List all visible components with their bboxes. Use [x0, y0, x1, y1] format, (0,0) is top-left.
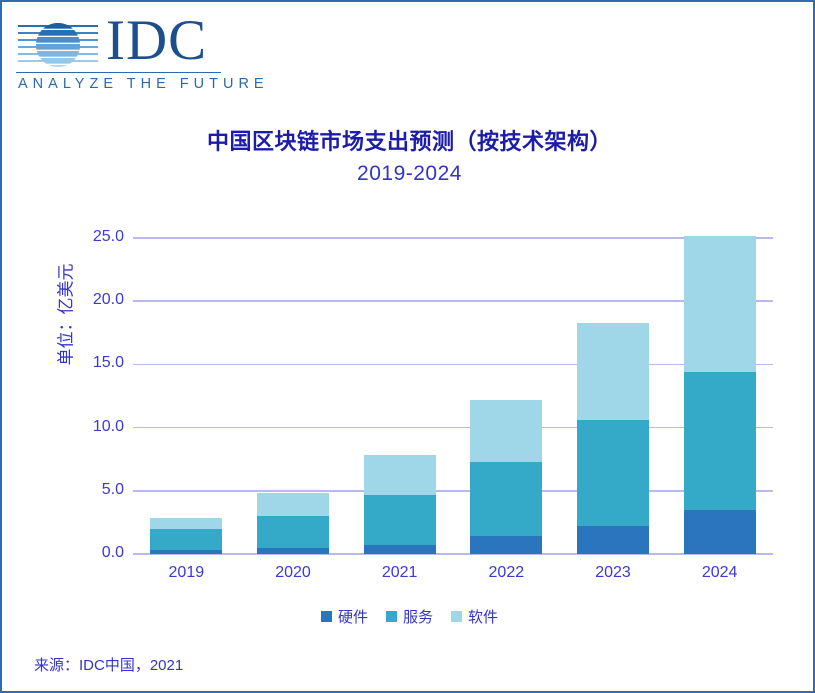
- legend-item[interactable]: 软件: [451, 606, 498, 627]
- y-axis-tick-label: 10.0: [93, 418, 124, 436]
- x-axis-tick-label: 2020: [240, 564, 347, 582]
- chart-legend: 硬件服务软件: [2, 606, 815, 627]
- bar-segment[interactable]: [364, 455, 436, 494]
- bar-segment[interactable]: [470, 536, 542, 554]
- bar-segment[interactable]: [257, 493, 329, 516]
- stacked-bar[interactable]: [257, 493, 329, 554]
- chart-plot: 单位：亿美元 0.05.010.015.020.025.0 2019202020…: [2, 2, 815, 693]
- y-axis-tick-label: 5.0: [102, 481, 124, 499]
- bar-series-container: [133, 238, 773, 554]
- y-axis-tick-label: 20.0: [93, 291, 124, 309]
- bar-segment[interactable]: [364, 495, 436, 546]
- legend-item[interactable]: 硬件: [321, 606, 368, 627]
- bar-segment[interactable]: [470, 400, 542, 462]
- legend-label: 硬件: [338, 606, 368, 627]
- x-axis-tick-label: 2024: [666, 564, 773, 582]
- bar-segment[interactable]: [150, 550, 222, 554]
- bar-segment[interactable]: [257, 548, 329, 554]
- bar-group[interactable]: [577, 238, 649, 554]
- legend-swatch: [451, 611, 462, 622]
- stacked-bar[interactable]: [470, 400, 542, 554]
- bar-group[interactable]: [470, 238, 542, 554]
- bar-group[interactable]: [684, 238, 756, 554]
- x-axis-tick-label: 2023: [560, 564, 667, 582]
- legend-swatch: [386, 611, 397, 622]
- y-axis-tick-label: 25.0: [93, 228, 124, 246]
- bar-group[interactable]: [150, 238, 222, 554]
- bar-segment[interactable]: [150, 518, 222, 529]
- bar-segment[interactable]: [577, 323, 649, 420]
- x-axis-tick-label: 2022: [453, 564, 560, 582]
- y-axis-tick-label: 0.0: [102, 544, 124, 562]
- bar-segment[interactable]: [684, 236, 756, 373]
- legend-swatch: [321, 611, 332, 622]
- source-note: 来源：IDC中国，2021: [34, 654, 183, 675]
- stacked-bar[interactable]: [364, 455, 436, 554]
- legend-item[interactable]: 服务: [386, 606, 433, 627]
- x-axis-tick-label: 2019: [133, 564, 240, 582]
- bar-group[interactable]: [364, 238, 436, 554]
- legend-label: 服务: [403, 606, 433, 627]
- legend-label: 软件: [468, 606, 498, 627]
- bar-segment[interactable]: [150, 529, 222, 550]
- stacked-bar[interactable]: [684, 236, 756, 555]
- bar-segment[interactable]: [684, 372, 756, 510]
- stacked-bar[interactable]: [577, 323, 649, 554]
- y-axis-tick-label: 15.0: [93, 354, 124, 372]
- y-axis-tick-labels: 0.05.010.015.020.025.0: [62, 238, 124, 554]
- bar-group[interactable]: [257, 238, 329, 554]
- stacked-bar[interactable]: [150, 518, 222, 554]
- bar-segment[interactable]: [364, 545, 436, 554]
- bar-segment[interactable]: [577, 526, 649, 554]
- chart-page: IDC ANALYZE THE FUTURE 中国区块链市场支出预测（按技术架构…: [0, 0, 815, 693]
- bar-segment[interactable]: [470, 462, 542, 537]
- bar-segment[interactable]: [684, 510, 756, 554]
- x-axis-tick-label: 2021: [346, 564, 453, 582]
- bar-segment[interactable]: [577, 420, 649, 526]
- bar-segment[interactable]: [257, 516, 329, 548]
